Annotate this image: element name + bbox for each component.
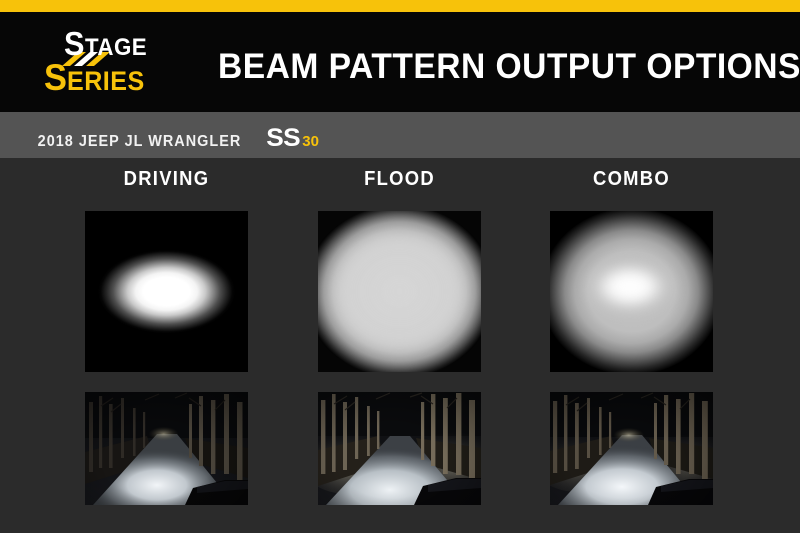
beam-pattern-driving	[85, 211, 248, 372]
subtitle-content: 2018 JEEP JL WRANGLER SS 30	[30, 124, 319, 148]
beam-hotspot-combo	[550, 211, 713, 372]
road-photo-flood	[318, 392, 481, 505]
column-header-flood: FLOOD	[325, 168, 475, 191]
svg-text:TAGE: TAGE	[85, 33, 147, 60]
beam-glow-flood	[318, 211, 481, 372]
vehicle-name: 2018 JEEP JL WRANGLER	[38, 133, 242, 151]
beam-pattern-flood	[318, 211, 481, 372]
stage-series-logo: S TAGE S ERIES	[38, 22, 188, 100]
comparison-grid: DRIVING	[0, 158, 800, 533]
beam-gradient-driving	[85, 211, 248, 372]
beam-pattern-combo	[550, 211, 713, 372]
road-photo-driving	[85, 392, 248, 505]
logo-artwork: S TAGE S ERIES	[38, 22, 188, 100]
road-photo-driving-art	[85, 392, 248, 505]
beam-pattern-infographic: S TAGE S ERIES BEAM PATTERN OUTPUT OPTIO…	[0, 0, 800, 533]
page-title: BEAM PATTERN OUTPUT OPTIONS	[218, 47, 800, 87]
road-photo-combo	[550, 392, 713, 505]
road-photo-flood-art	[318, 392, 481, 505]
road-photo-combo-art	[550, 392, 713, 505]
svg-text:ERIES: ERIES	[67, 65, 145, 96]
accent-stripe	[0, 0, 800, 12]
model-badge: SS 30	[267, 124, 319, 153]
model-number: 30	[302, 133, 319, 150]
svg-text:S: S	[44, 57, 67, 98]
column-header-combo: COMBO	[557, 168, 707, 191]
svg-text:S: S	[64, 25, 84, 62]
model-prefix: SS	[266, 124, 300, 153]
column-header-driving: DRIVING	[92, 168, 242, 191]
